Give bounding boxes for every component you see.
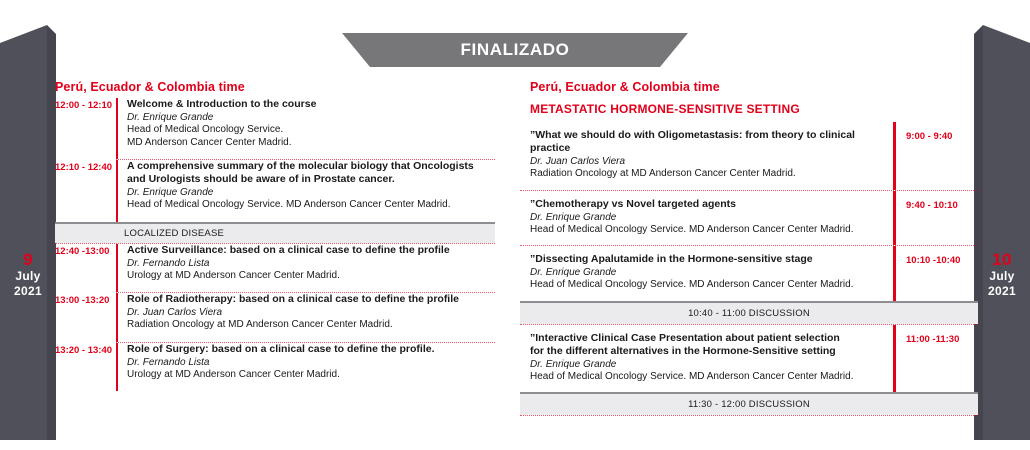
session-list-right: ”What we should do with Oligometastasis:…	[520, 118, 978, 416]
session-row[interactable]: ”What we should do with Oligometastasis:…	[520, 122, 978, 190]
session-affiliation: Head of Medical Oncology Service.	[127, 124, 495, 137]
status-badge: FINALIZADO	[342, 33, 688, 67]
section-band-localized-disease: LOCALIZED DISEASE	[55, 222, 495, 243]
session-row[interactable]: ”Dissecting Apalutamide in the Hormone-s…	[520, 246, 978, 301]
discussion-band: 11:30 - 12:00 DISCUSSION	[520, 392, 978, 415]
date-wing-right-month: July	[974, 269, 1030, 284]
status-badge-label: FINALIZADO	[342, 33, 688, 67]
session-affiliation: Radiation Oncology at MD Anderson Cancer…	[127, 319, 495, 332]
session-title: ”Dissecting Apalutamide in the Hormone-s…	[530, 253, 881, 266]
session-time: 10:10 -10:40	[896, 246, 978, 301]
session-row[interactable]: ”Interactive Clinical Case Presentation …	[520, 325, 978, 393]
session-time: 13:00 -13:20	[55, 293, 116, 306]
session-time: 12:40 -13:00	[55, 244, 116, 257]
session-body: Role of Surgery: based on a clinical cas…	[118, 343, 495, 392]
session-speaker: Dr. Juan Carlos Viera	[127, 306, 495, 319]
session-speaker: Dr. Fernando Lista	[127, 356, 495, 369]
discussion-band-label: 11:30 - 12:00 DISCUSSION	[688, 399, 810, 410]
session-body: Active Surveillance: based on a clinical…	[118, 244, 495, 293]
session-title: ”Chemotherapy vs Novel targeted agents	[530, 198, 881, 211]
session-title: A comprehensive summary of the molecular…	[127, 160, 495, 173]
session-title: ”What we should do with Oligometastasis:…	[530, 129, 881, 155]
session-body: ”Chemotherapy vs Novel targeted agents D…	[520, 191, 893, 246]
session-speaker: Dr. Fernando Lista	[127, 257, 495, 270]
session-title: for the different alternatives in the Ho…	[530, 345, 881, 358]
date-wing-right-text: 10 July 2021	[974, 250, 1030, 299]
session-time: 13:20 - 13:40	[55, 343, 116, 356]
session-row[interactable]: 12:40 -13:00 Active Surveillance: based …	[55, 244, 495, 293]
session-affiliation: Head of Medical Oncology Service. MD And…	[530, 279, 881, 292]
session-body: Welcome & Introduction to the course Dr.…	[118, 98, 495, 159]
session-title: Role of Surgery: based on a clinical cas…	[127, 343, 495, 356]
session-row[interactable]: 13:20 - 13:40 Role of Surgery: based on …	[55, 343, 495, 392]
section-divider	[520, 415, 978, 416]
session-title: and Urologists should be aware of in Pro…	[127, 173, 495, 186]
session-affiliation: Head of Medical Oncology Service. MD And…	[127, 199, 495, 212]
date-wing-left: 9 July 2021	[0, 25, 56, 440]
session-speaker: Dr. Enrique Grande	[530, 211, 881, 224]
session-row[interactable]: 13:00 -13:20 Role of Radiotherapy: based…	[55, 293, 495, 342]
session-title: Active Surveillance: based on a clinical…	[127, 244, 495, 257]
date-wing-left-text: 9 July 2021	[0, 250, 56, 299]
session-row[interactable]: 12:10 - 12:40 A comprehensive summary of…	[55, 160, 495, 222]
session-affiliation: Head of Medical Oncology Service. MD And…	[530, 371, 881, 384]
session-affiliation: MD Anderson Cancer Center Madrid.	[127, 137, 495, 150]
session-body: ”What we should do with Oligometastasis:…	[520, 122, 893, 190]
session-time: 9:40 - 10:10	[896, 191, 978, 246]
session-speaker: Dr. Enrique Grande	[127, 111, 495, 124]
timezone-header-right: Perú, Ecuador & Colombia time	[530, 80, 720, 94]
date-wing-left-day: 9	[0, 250, 56, 269]
session-affiliation: Radiation Oncology at MD Anderson Cancer…	[530, 168, 881, 181]
session-list-left: 12:00 - 12:10 Welcome & Introduction to …	[55, 98, 495, 391]
session-speaker: Dr. Enrique Grande	[530, 266, 881, 279]
session-time: 9:00 - 9:40	[896, 122, 978, 190]
section-header-metastatic: METASTATIC HORMONE-SENSITIVE SETTING	[530, 102, 800, 116]
agenda-page: 9 July 2021 10 July 2021 FINALIZADO Perú…	[0, 0, 1030, 450]
session-speaker: Dr. Enrique Grande	[530, 358, 881, 371]
wing-right-shape	[974, 25, 1030, 440]
date-wing-left-year: 2021	[0, 284, 56, 299]
session-body: A comprehensive summary of the molecular…	[118, 160, 495, 222]
session-speaker: Dr. Juan Carlos Viera	[530, 155, 881, 168]
session-body: ”Dissecting Apalutamide in the Hormone-s…	[520, 246, 893, 301]
date-wing-right: 10 July 2021	[974, 25, 1030, 440]
session-time: 12:10 - 12:40	[55, 160, 116, 173]
session-speaker: Dr. Enrique Grande	[127, 186, 495, 199]
session-row[interactable]: ”Chemotherapy vs Novel targeted agents D…	[520, 191, 978, 246]
session-time: 12:00 - 12:10	[55, 98, 116, 111]
session-body: Role of Radiotherapy: based on a clinica…	[118, 293, 495, 342]
wing-left-shape	[0, 25, 56, 440]
section-band-label: LOCALIZED DISEASE	[124, 228, 224, 239]
session-body: ”Interactive Clinical Case Presentation …	[520, 325, 893, 393]
date-wing-left-month: July	[0, 269, 56, 284]
timezone-header-left: Perú, Ecuador & Colombia time	[55, 80, 245, 94]
date-wing-right-year: 2021	[974, 284, 1030, 299]
discussion-band: 10:40 - 11:00 DISCUSSION	[520, 301, 978, 324]
session-affiliation: Urology at MD Anderson Cancer Center Mad…	[127, 270, 495, 283]
session-time: 11:00 -11:30	[896, 325, 978, 393]
session-affiliation: Head of Medical Oncology Service. MD And…	[530, 224, 881, 237]
session-title: ”Interactive Clinical Case Presentation …	[530, 332, 881, 345]
session-affiliation: Urology at MD Anderson Cancer Center Mad…	[127, 369, 495, 382]
session-title: Welcome & Introduction to the course	[127, 98, 495, 111]
session-title: Role of Radiotherapy: based on a clinica…	[127, 293, 495, 306]
date-wing-right-day: 10	[974, 250, 1030, 269]
session-row[interactable]: 12:00 - 12:10 Welcome & Introduction to …	[55, 98, 495, 159]
discussion-band-label: 10:40 - 11:00 DISCUSSION	[688, 308, 810, 319]
